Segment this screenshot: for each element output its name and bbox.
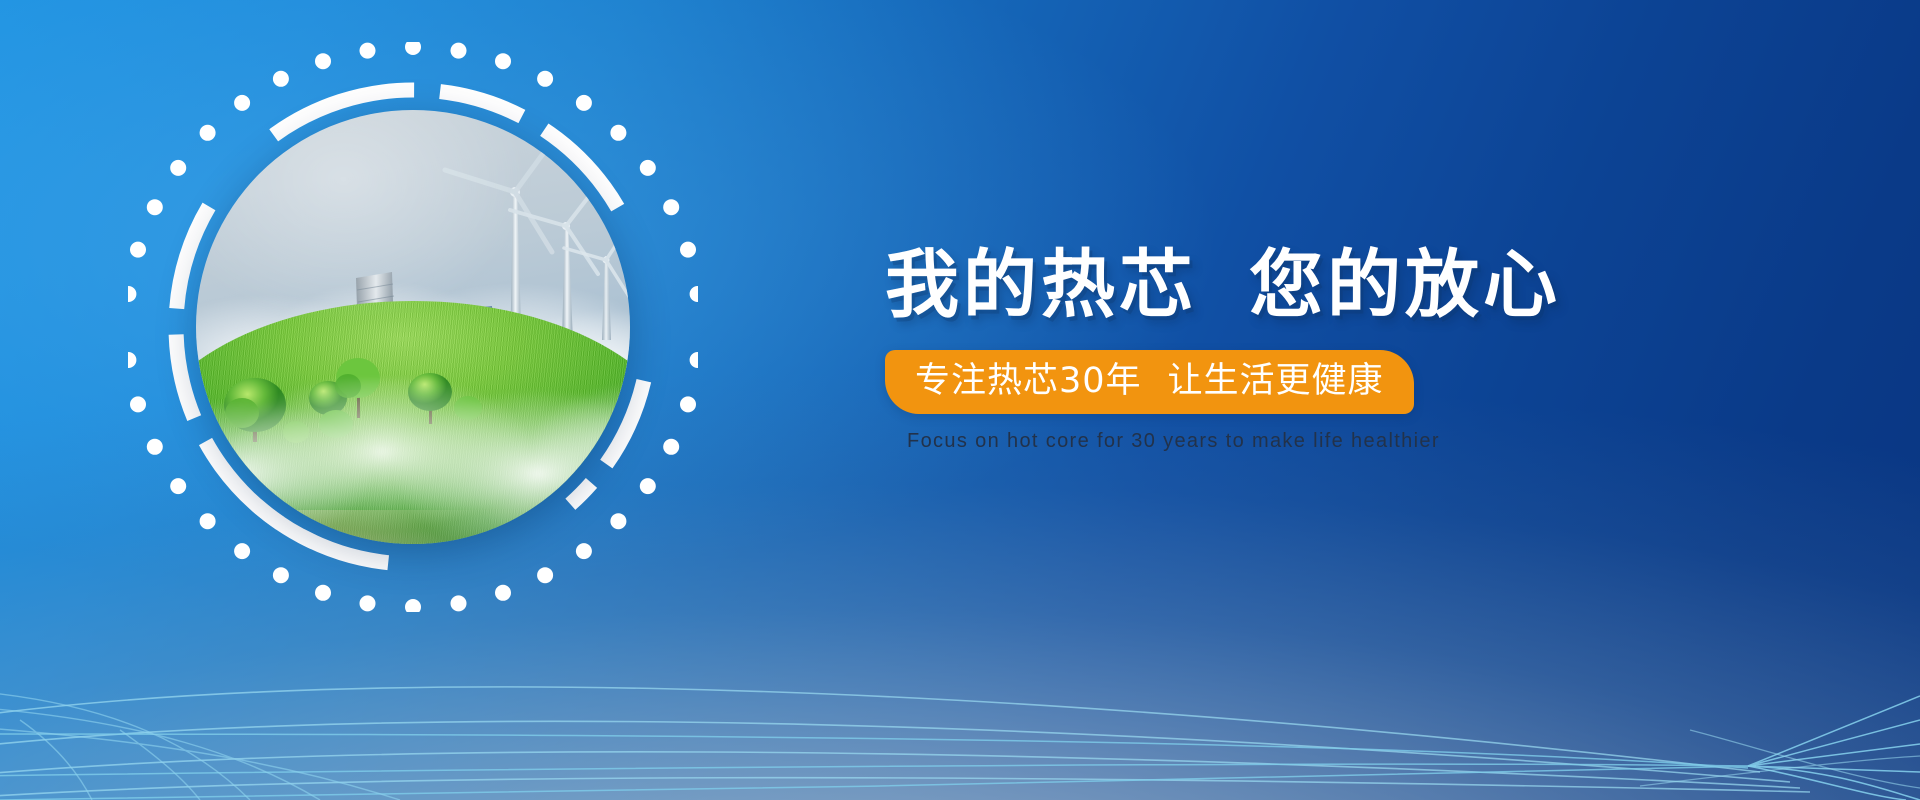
headline-part-2: 您的放心 — [1249, 242, 1561, 328]
eco-globe-graphic — [128, 42, 698, 612]
banner-copy: 我的热芯您的放心 专注热芯30年让生活更健康 Focus on hot core… — [885, 248, 1745, 453]
headline: 我的热芯您的放心 — [885, 248, 1745, 322]
globe-clouds-lower — [196, 379, 630, 544]
tagline-badge: 专注热芯30年让生活更健康 — [885, 350, 1414, 414]
badge-part-2: 让生活更健康 — [1168, 361, 1384, 401]
english-subtitle: Focus on hot core for 30 years to make l… — [907, 430, 1745, 453]
badge-part-1: 专注热芯30年 — [915, 361, 1142, 401]
eco-globe-image — [196, 110, 630, 544]
hero-banner: 我的热芯您的放心 专注热芯30年让生活更健康 Focus on hot core… — [0, 0, 1920, 800]
headline-part-1: 我的热芯 — [885, 242, 1197, 328]
